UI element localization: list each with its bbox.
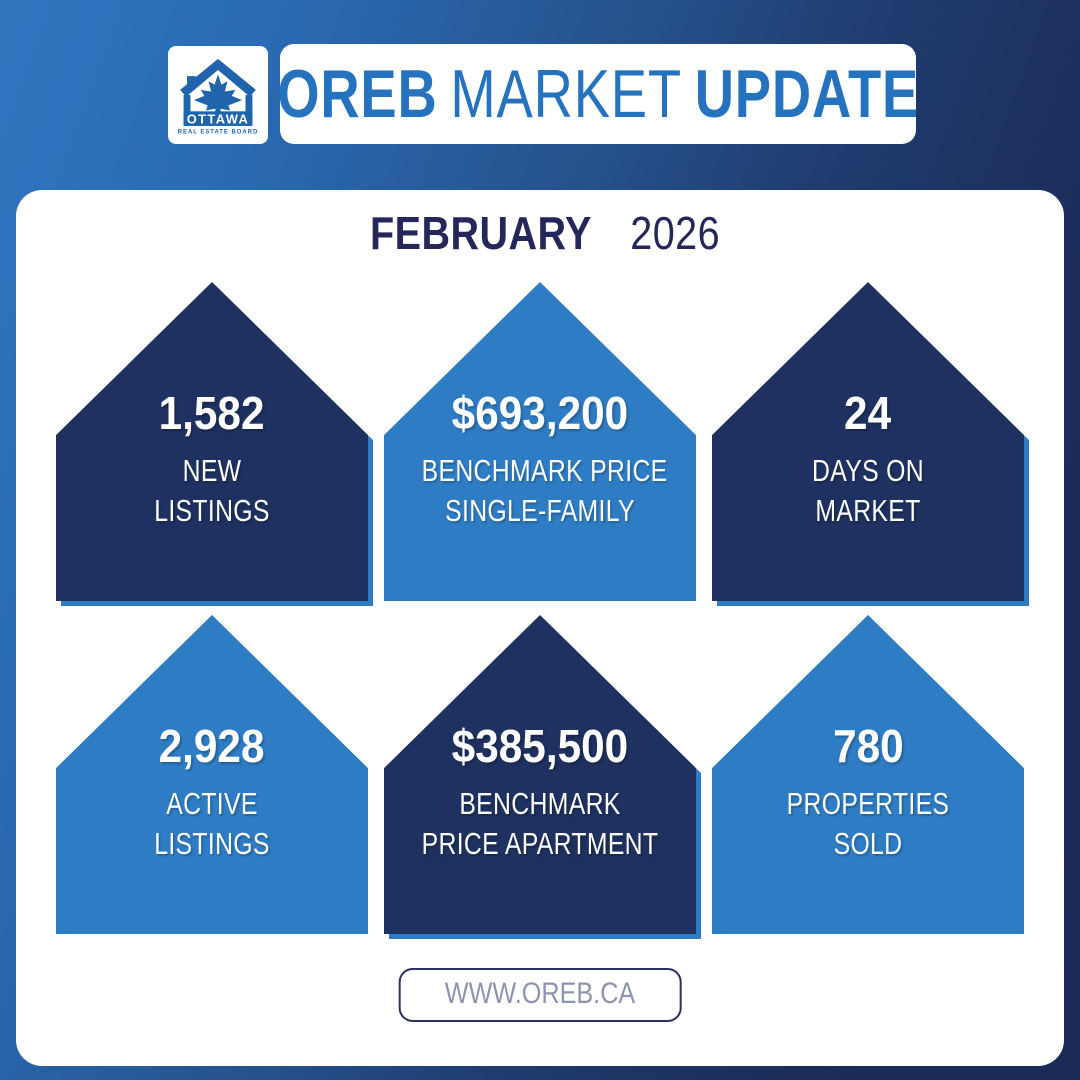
stat-card[interactable]: $693,200 BENCHMARK PRICE SINGLE-FAMILY — [384, 282, 696, 601]
stat-value: $385,500 — [452, 723, 629, 770]
stat-value: $693,200 — [452, 390, 629, 437]
stat-card[interactable]: $385,500 BENCHMARK PRICE APARTMENT — [384, 615, 696, 934]
stat-value: 24 — [844, 390, 891, 437]
stat-card-content: 2,928 ACTIVE LISTINGS — [56, 723, 368, 863]
stat-label-line1: BENCHMARK — [422, 784, 659, 824]
stat-value: 780 — [833, 723, 904, 770]
oreb-logo-badge[interactable]: OTTAWA REAL ESTATE BOARD — [168, 46, 268, 144]
stat-label-line1: BENCHMARK PRICE — [422, 451, 659, 491]
stat-card-content: 780 PROPERTIES SOLD — [712, 723, 1024, 863]
stat-label: BENCHMARK PRICE APARTMENT — [422, 784, 659, 863]
stat-label-line2: SOLD — [750, 824, 987, 864]
stat-label-line1: DAYS ON — [750, 451, 987, 491]
stat-label: ACTIVE LISTINGS — [94, 784, 331, 863]
oreb-house-maple-leaf-logo: OTTAWA REAL ESTATE BOARD — [174, 52, 262, 138]
stat-label-line2: SINGLE-FAMILY — [422, 491, 659, 531]
stat-card[interactable]: 2,928 ACTIVE LISTINGS — [56, 615, 368, 934]
stat-card-content: $693,200 BENCHMARK PRICE SINGLE-FAMILY — [384, 390, 696, 530]
stat-card[interactable]: 24 DAYS ON MARKET — [712, 282, 1024, 601]
stat-label-line1: PROPERTIES — [750, 784, 987, 824]
content-panel: FEBRUARY 2026 1,582 NEW LISTINGS $693,20… — [16, 190, 1064, 1066]
stat-value: 1,582 — [159, 390, 265, 437]
stat-label-line1: ACTIVE — [94, 784, 331, 824]
stat-label-line1: NEW — [94, 451, 331, 491]
stat-card-content: $385,500 BENCHMARK PRICE APARTMENT — [384, 723, 696, 863]
stat-label-line2: LISTINGS — [94, 824, 331, 864]
heading-month: FEBRUARY — [370, 210, 592, 256]
stat-card[interactable]: 1,582 NEW LISTINGS — [56, 282, 368, 601]
stat-label: DAYS ON MARKET — [750, 451, 987, 530]
stat-value: 2,928 — [159, 723, 265, 770]
stat-card-content: 1,582 NEW LISTINGS — [56, 390, 368, 530]
svg-text:OTTAWA: OTTAWA — [187, 111, 249, 126]
header-title-oreb: OREB — [280, 60, 437, 128]
stat-label-line2: LISTINGS — [94, 491, 331, 531]
stat-label: PROPERTIES SOLD — [750, 784, 987, 863]
stat-card-grid: 1,582 NEW LISTINGS $693,200 BENCHMARK PR… — [56, 282, 1024, 934]
stat-label: BENCHMARK PRICE SINGLE-FAMILY — [422, 451, 659, 530]
heading-year: 2026 — [631, 210, 721, 256]
website-url-badge[interactable]: WWW.OREB.CA — [399, 968, 682, 1022]
stat-label: NEW LISTINGS — [94, 451, 331, 530]
svg-text:REAL ESTATE BOARD: REAL ESTATE BOARD — [178, 130, 259, 136]
header: OTTAWA REAL ESTATE BOARD OREB MARKET UPD… — [168, 44, 916, 146]
header-title-market: MARKET — [450, 60, 681, 128]
stat-label-line2: PRICE APARTMENT — [422, 824, 659, 864]
stat-card-content: 24 DAYS ON MARKET — [712, 390, 1024, 530]
header-title-pill: OREB MARKET UPDATE — [280, 44, 916, 144]
header-title-update: UPDATE — [695, 60, 916, 128]
month-year-heading: FEBRUARY 2026 — [16, 210, 1064, 256]
website-url-text: WWW.OREB.CA — [445, 979, 635, 1009]
stat-card[interactable]: 780 PROPERTIES SOLD — [712, 615, 1024, 934]
stat-label-line2: MARKET — [750, 491, 987, 531]
